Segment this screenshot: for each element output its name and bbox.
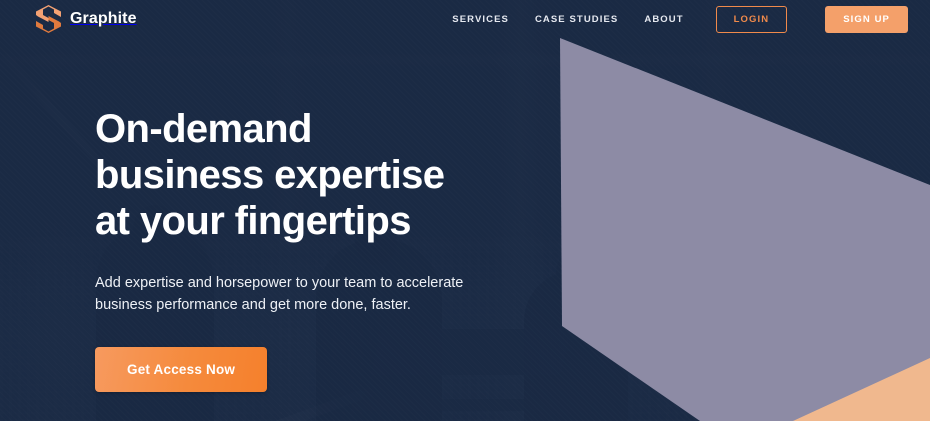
brand-logo-link[interactable]: Graphite <box>36 5 137 33</box>
nav-item-about[interactable]: ABOUT <box>644 14 683 25</box>
hexagon-s-logo-icon <box>36 5 61 33</box>
hero-page: Graphite SERVICES CASE STUDIES ABOUT LOG… <box>0 0 930 421</box>
hero-subheadline: Add expertise and horsepower to your tea… <box>95 272 475 316</box>
get-access-now-button[interactable]: Get Access Now <box>95 347 267 392</box>
site-header: Graphite SERVICES CASE STUDIES ABOUT LOG… <box>0 0 930 38</box>
hero-headline-line: On-demand <box>95 106 565 152</box>
hero-headline: On-demand business expertise at your fin… <box>95 106 565 244</box>
main-navigation: SERVICES CASE STUDIES ABOUT LOGIN SIGN U… <box>452 6 908 33</box>
nav-item-case-studies[interactable]: CASE STUDIES <box>535 14 618 25</box>
hero-headline-line: at your fingertips <box>95 198 565 244</box>
login-button[interactable]: LOGIN <box>716 6 788 33</box>
hero-subheadline-line: business performance and get more done, … <box>95 294 475 316</box>
nav-item-services[interactable]: SERVICES <box>452 14 509 25</box>
brand-name: Graphite <box>70 10 137 28</box>
hero-section: On-demand business expertise at your fin… <box>0 38 930 392</box>
signup-button[interactable]: SIGN UP <box>825 6 908 33</box>
hero-subheadline-line: Add expertise and horsepower to your tea… <box>95 272 475 294</box>
hero-headline-line: business expertise <box>95 152 565 198</box>
